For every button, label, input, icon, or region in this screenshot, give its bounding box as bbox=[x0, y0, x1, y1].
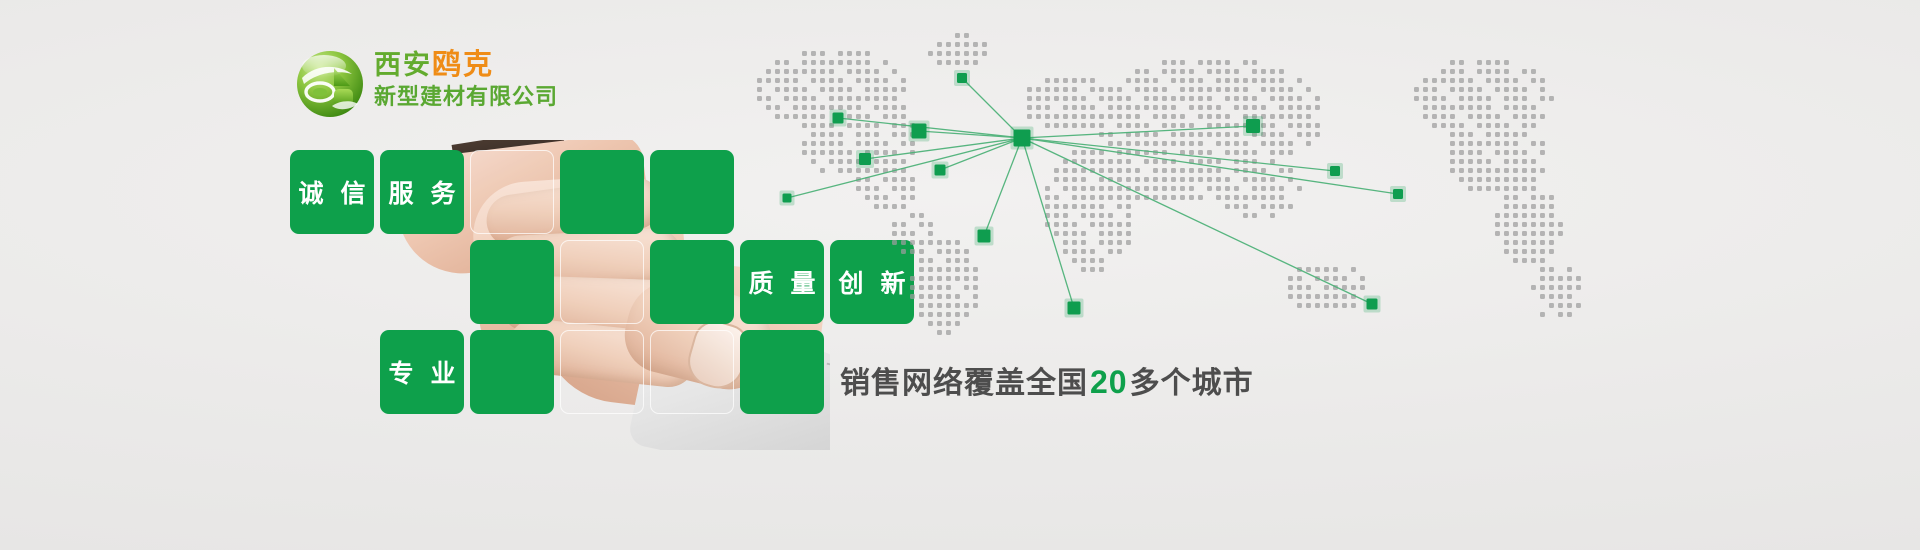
logo-wordmark: 西安鸥克 新型建材有限公司 bbox=[374, 48, 558, 112]
tagline-prefix: 销售网络覆盖全国 bbox=[840, 367, 1088, 400]
value-tile-blank bbox=[650, 240, 734, 324]
tagline-suffix: 多个城市 bbox=[1130, 367, 1254, 400]
network-city-node[interactable] bbox=[1330, 166, 1340, 176]
dotted-world-map bbox=[735, 18, 1615, 348]
network-link bbox=[940, 138, 1022, 170]
value-tile-blank bbox=[650, 330, 734, 414]
network-city-node[interactable] bbox=[1393, 189, 1403, 199]
value-tile-blank bbox=[470, 240, 554, 324]
network-link bbox=[984, 138, 1022, 236]
network-city-node[interactable] bbox=[1246, 119, 1260, 133]
banner-root: 西安鸥克 新型建材有限公司 诚 信服 务质 量创 新专 业 bbox=[0, 0, 1920, 550]
logo-subtitle: 新型建材有限公司 bbox=[374, 82, 558, 112]
network-city-node[interactable] bbox=[833, 113, 844, 124]
value-tile-blank bbox=[560, 150, 644, 234]
network-city-node[interactable] bbox=[912, 124, 927, 139]
value-tile-label: 诚 信 bbox=[290, 150, 374, 234]
value-tile-blank bbox=[470, 330, 554, 414]
logo-city: 西安 bbox=[374, 50, 432, 80]
value-tile-诚信[interactable]: 诚 信 bbox=[290, 150, 374, 234]
network-city-node[interactable] bbox=[783, 194, 792, 203]
network-link bbox=[1022, 138, 1372, 304]
network-city-node[interactable] bbox=[978, 230, 991, 243]
network-tagline: 销售网络覆盖全国20多个城市 bbox=[840, 358, 1254, 402]
value-tile-label: 服 务 bbox=[380, 150, 464, 234]
company-logo[interactable]: 西安鸥克 新型建材有限公司 bbox=[294, 44, 594, 124]
value-tile-blank bbox=[560, 330, 644, 414]
network-city-node[interactable] bbox=[1367, 299, 1378, 310]
value-tile-专业[interactable]: 专 业 bbox=[380, 330, 464, 414]
logo-brand: 鸥克 bbox=[432, 49, 494, 81]
logo-company-name: 西安鸥克 bbox=[374, 48, 558, 82]
network-city-node[interactable] bbox=[859, 153, 871, 165]
network-city-node[interactable] bbox=[1068, 302, 1081, 315]
network-city-node[interactable] bbox=[935, 165, 946, 176]
value-tile-blank bbox=[650, 150, 734, 234]
value-tile-blank bbox=[560, 240, 644, 324]
network-link bbox=[865, 138, 1022, 159]
network-hub-node[interactable] bbox=[1014, 130, 1031, 147]
value-tile-label: 专 业 bbox=[380, 330, 464, 414]
tagline-number: 20 bbox=[1088, 364, 1130, 400]
globe-leaf-icon bbox=[294, 48, 366, 120]
network-city-node[interactable] bbox=[957, 73, 967, 83]
value-tile-服务[interactable]: 服 务 bbox=[380, 150, 464, 234]
value-tile-blank bbox=[470, 150, 554, 234]
